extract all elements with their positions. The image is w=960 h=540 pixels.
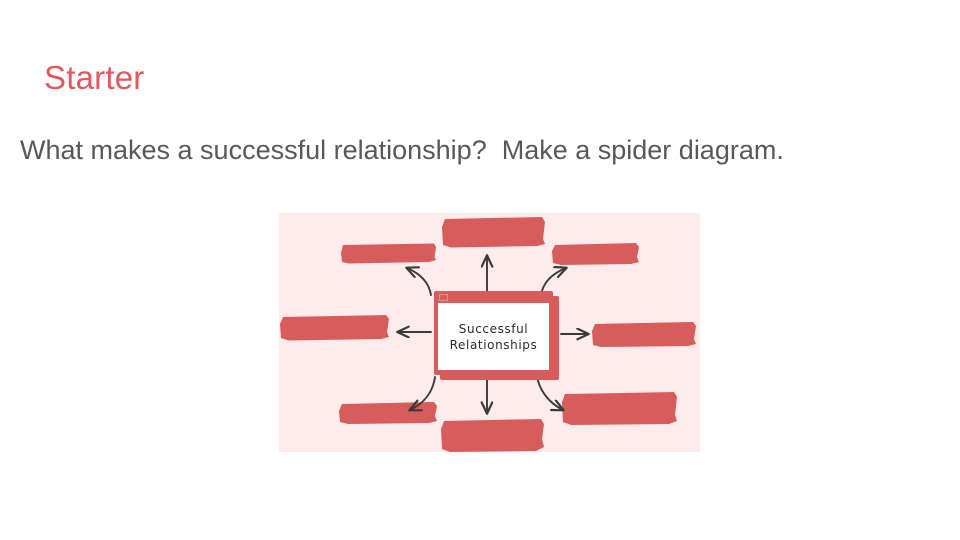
branch-box-top-left[interactable] [341,244,436,264]
spider-diagram-image: Successful Relationships [279,213,700,452]
branch-box-middle-right[interactable] [592,322,696,347]
slide-body-text: What makes a successful relationship? Ma… [20,131,945,169]
slide-canvas: Starter What makes a successful relation… [0,0,960,540]
center-title-line-1: Successful [459,321,528,337]
window-controls-icon [439,294,453,302]
branch-box-bottom-left[interactable] [339,402,437,424]
page-title: Starter [44,56,144,100]
branch-box-top-right[interactable] [552,243,639,265]
branch-box-middle-left[interactable] [280,315,389,341]
branch-box-top-center[interactable] [442,217,545,248]
center-title-line-2: Relationships [450,337,538,353]
center-card-inner: Successful Relationships [438,303,549,370]
branch-box-bottom-right[interactable] [562,392,677,425]
center-card[interactable]: Successful Relationships [434,291,553,375]
branch-box-bottom-center[interactable] [441,419,544,452]
